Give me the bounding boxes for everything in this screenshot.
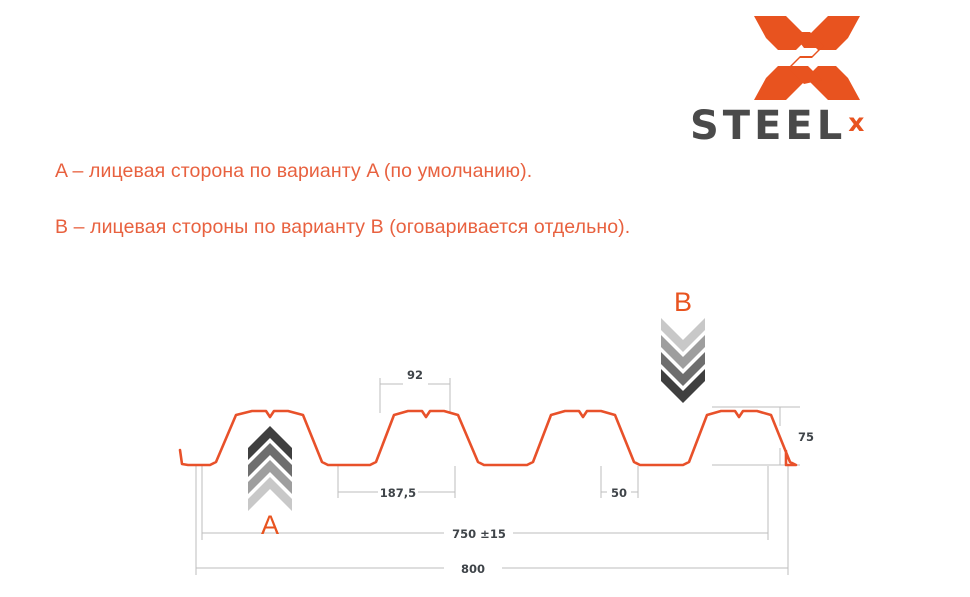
wordmark-steel: STEEL bbox=[690, 106, 846, 146]
steelx-x-mark-icon bbox=[752, 14, 862, 102]
marker-a-label: A bbox=[261, 510, 279, 540]
wordmark-superscript-x: x bbox=[848, 110, 864, 135]
steelx-logo: STEEL x bbox=[690, 14, 940, 144]
marker-b-label: B bbox=[674, 287, 692, 317]
dimension-50-label: 50 bbox=[611, 486, 627, 500]
caption-variant-b: B – лицевая стороны по варианту B (огова… bbox=[55, 216, 630, 239]
dimension-75-label: 75 bbox=[798, 430, 814, 444]
marker-b-chevrons-icon bbox=[661, 318, 705, 403]
extension-lines bbox=[196, 378, 800, 570]
dimension-92-label: 92 bbox=[407, 368, 423, 382]
dimension-187-5-label: 187,5 bbox=[380, 486, 416, 500]
steelx-wordmark: STEEL x bbox=[690, 106, 940, 148]
profile-drawing-page: STEEL x A – лицевая сторона по варианту … bbox=[0, 0, 970, 597]
caption-variant-a: A – лицевая сторона по варианту A (по ум… bbox=[55, 160, 532, 183]
marker-a-chevrons-icon bbox=[248, 426, 292, 511]
dimension-800-label: 800 bbox=[461, 562, 485, 576]
profile-technical-drawing: 92 187,5 50 75 750 ±15 800 A B bbox=[0, 280, 970, 597]
dimension-750-label: 750 ±15 bbox=[452, 527, 506, 541]
